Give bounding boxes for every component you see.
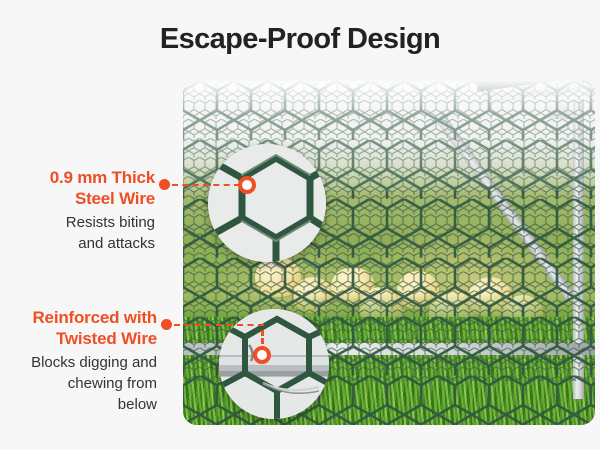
annotation-twisted-wire: Reinforced with Twisted Wire Blocks digg…	[0, 307, 157, 415]
annotation-twisted-wire-description-line2: chewing from	[0, 373, 157, 394]
annotation-steel-wire-description: Resists biting and attacks	[0, 212, 155, 254]
annotation-steel-wire-headline-line2: Steel Wire	[0, 188, 155, 209]
annotation-twisted-wire-description: Blocks digging and chewing from below	[0, 352, 157, 415]
annotation-twisted-wire-description-line1: Blocks digging and	[0, 352, 157, 373]
annotation-twisted-wire-headline: Reinforced with Twisted Wire	[0, 307, 157, 349]
annotation-steel-wire-target-ring	[238, 176, 256, 194]
annotation-steel-wire: 0.9 mm Thick Steel Wire Resists biting a…	[0, 167, 155, 254]
bracket	[547, 101, 569, 119]
annotation-steel-wire-leader-line	[172, 184, 240, 186]
annotation-twisted-wire-dot	[161, 319, 172, 330]
annotation-twisted-wire-target-ring	[253, 346, 271, 364]
product-photo	[183, 81, 595, 425]
magnifier-steel-wire-content	[208, 144, 326, 262]
annotation-steel-wire-description-line1: Resists biting	[0, 212, 155, 233]
poster-root: Escape-Proof Design	[0, 0, 600, 450]
annotation-steel-wire-headline: 0.9 mm Thick Steel Wire	[0, 167, 155, 209]
annotation-twisted-wire-description-line3: below	[0, 394, 157, 415]
annotation-steel-wire-headline-line1: 0.9 mm Thick	[0, 167, 155, 188]
annotation-steel-wire-description-line2: and attacks	[0, 233, 155, 254]
annotation-twisted-wire-leader-line	[174, 324, 264, 326]
annotation-twisted-wire-headline-line2: Twisted Wire	[0, 328, 157, 349]
page-title: Escape-Proof Design	[0, 22, 600, 56]
magnifier-steel-wire	[208, 144, 326, 262]
annotation-steel-wire-dot	[159, 179, 170, 190]
annotation-twisted-wire-headline-line1: Reinforced with	[0, 307, 157, 328]
